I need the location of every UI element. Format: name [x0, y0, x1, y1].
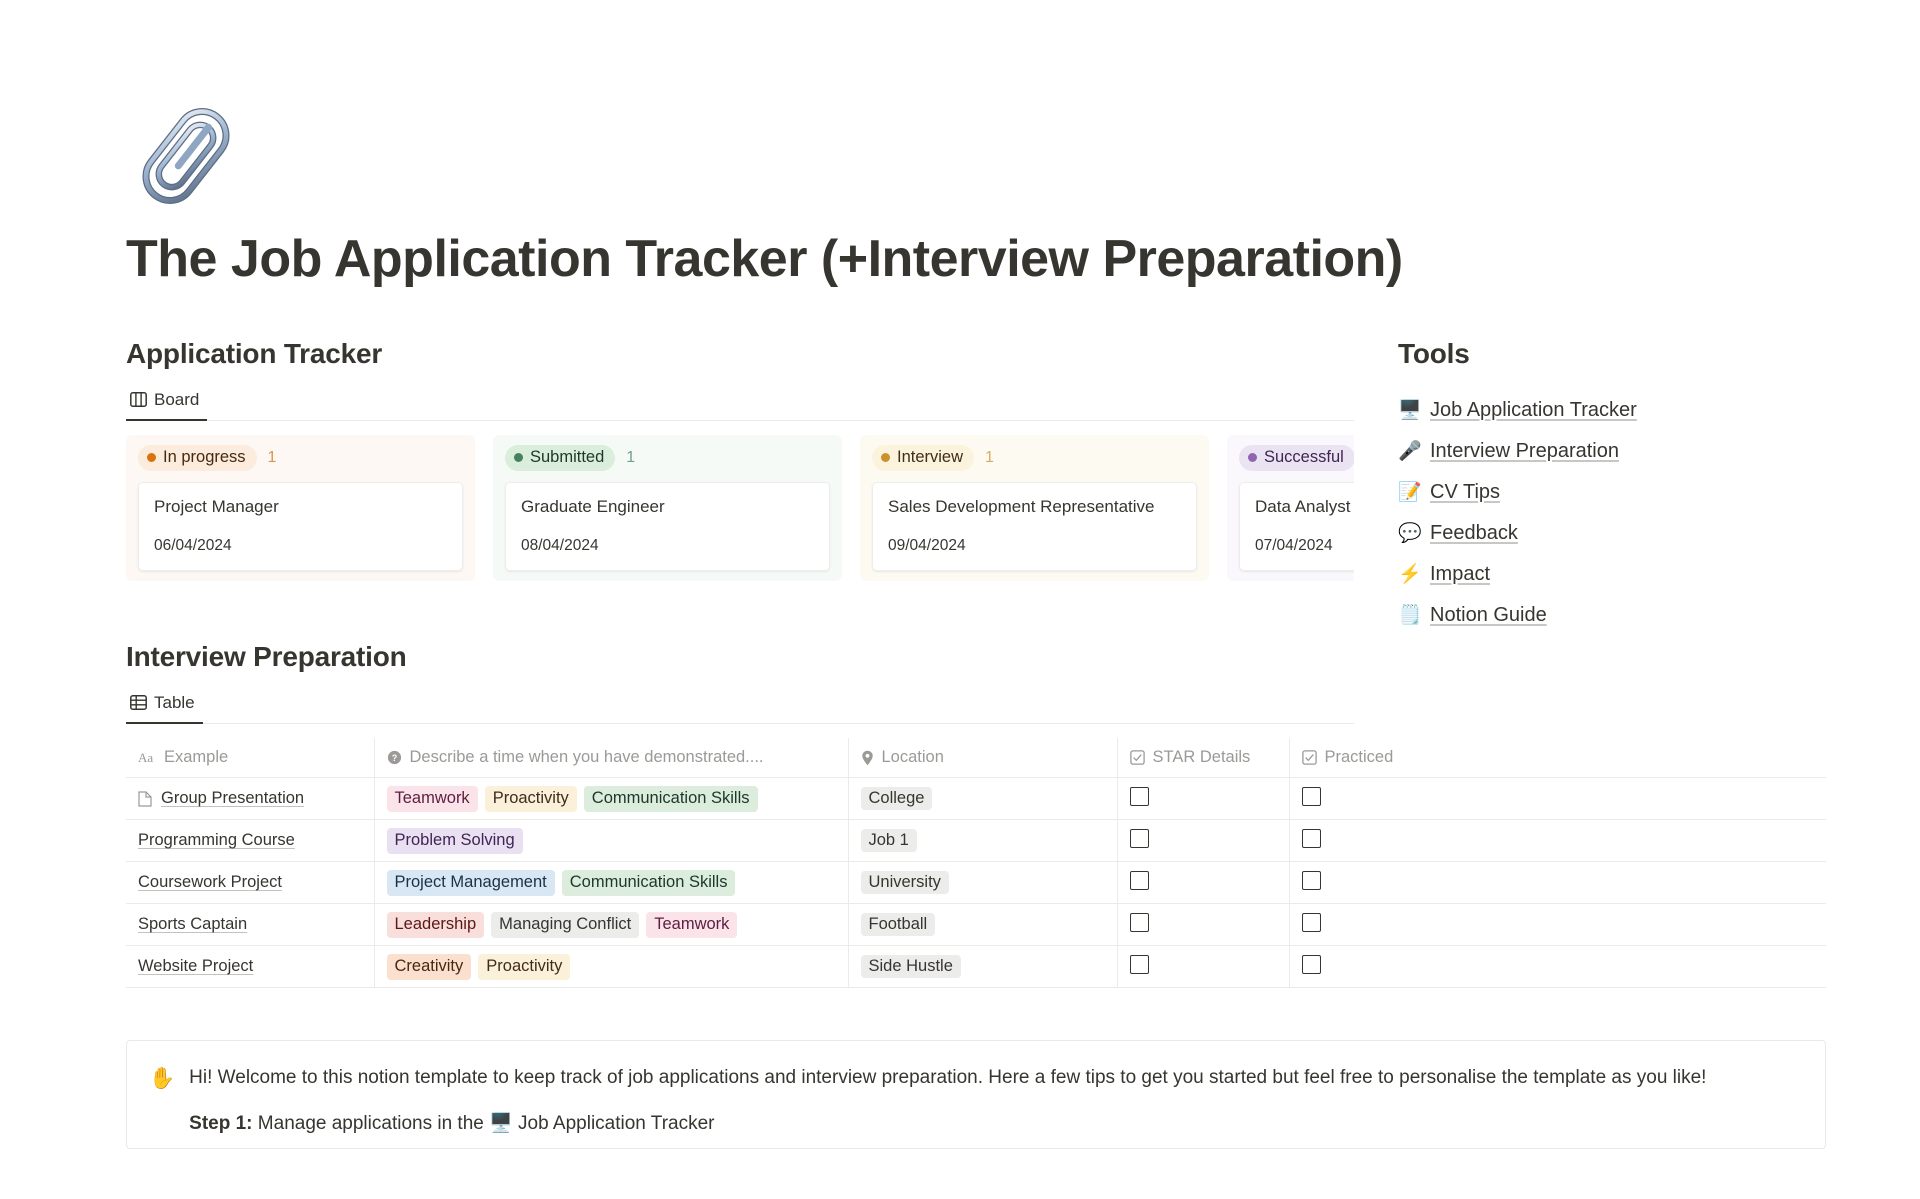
cell-location[interactable]: University [848, 862, 1117, 904]
tool-item-label[interactable]: CV Tips [1430, 481, 1500, 504]
page-body: Application Tracker Board In progress1Pr… [126, 338, 1794, 1149]
kanban-card-title: Data Analyst [1255, 496, 1354, 519]
column-header-example-label: Example [164, 748, 228, 767]
cell-describe-tags[interactable]: Problem Solving [374, 820, 848, 862]
microphone-icon: 🎤 [1398, 442, 1419, 461]
star-details-checkbox[interactable] [1130, 955, 1149, 974]
column-header-describe[interactable]: ? Describe a time when you have demonstr… [374, 738, 848, 778]
status-dot-icon [147, 453, 156, 462]
practiced-checkbox[interactable] [1302, 955, 1321, 974]
callout-step-text: Manage applications in the 🖥️ Job Applic… [253, 1113, 715, 1134]
cell-example[interactable]: Website Project [126, 946, 374, 988]
high-voltage-icon: ⚡ [1398, 565, 1419, 584]
cell-describe-tags[interactable]: LeadershipManaging ConflictTeamwork [374, 904, 848, 946]
kanban-column[interactable]: Submitted1Graduate Engineer08/04/2024 [493, 435, 842, 581]
tool-item[interactable]: 📝CV Tips [1398, 472, 1794, 513]
interview-preparation-table: Aa Example ? [126, 738, 1826, 989]
skill-tag: Managing Conflict [491, 912, 639, 938]
example-name[interactable]: Group Presentation [161, 789, 304, 808]
column-header-practiced[interactable]: Practiced [1289, 738, 1826, 778]
kanban-card-title: Project Manager [154, 496, 447, 519]
location-tag: Football [861, 913, 936, 936]
star-details-checkbox[interactable] [1130, 913, 1149, 932]
cell-star-details[interactable] [1117, 862, 1289, 904]
practiced-checkbox[interactable] [1302, 787, 1321, 806]
svg-text:?: ? [391, 753, 397, 763]
memo-icon: 📝 [1398, 483, 1419, 502]
example-name[interactable]: Sports Captain [138, 915, 247, 934]
column-header-practiced-label: Practiced [1325, 748, 1394, 767]
skill-tag: Creativity [387, 954, 472, 980]
tab-board[interactable]: Board [126, 386, 207, 421]
cell-location[interactable]: Football [848, 904, 1117, 946]
skill-tag: Teamwork [646, 912, 737, 938]
cell-practiced[interactable] [1289, 778, 1826, 820]
skill-tag: Communication Skills [562, 870, 736, 896]
cell-describe-tags[interactable]: Project ManagementCommunication Skills [374, 862, 848, 904]
kanban-card-title: Sales Development Representative [888, 496, 1181, 519]
application-tracker-heading: Application Tracker [126, 338, 1354, 370]
tools-column: Tools 🖥️Job Application Tracker🎤Intervie… [1354, 338, 1794, 636]
star-details-checkbox[interactable] [1130, 871, 1149, 890]
column-header-location-label: Location [882, 748, 944, 767]
status-dot-icon [1248, 453, 1257, 462]
tab-board-label: Board [154, 390, 199, 410]
kanban-card-date: 08/04/2024 [521, 537, 814, 555]
tools-heading: Tools [1398, 338, 1794, 370]
kanban-column[interactable]: Interview1Sales Development Representati… [860, 435, 1209, 581]
kanban-column-header: Interview1 [872, 445, 1197, 471]
tool-item[interactable]: 🎤Interview Preparation [1398, 431, 1794, 472]
raised-hand-icon: ✋ [149, 1063, 175, 1138]
status-badge[interactable]: In progress [138, 445, 257, 471]
kanban-card-date: 07/04/2024 [1255, 537, 1354, 555]
column-header-describe-label: Describe a time when you have demonstrat… [410, 748, 764, 767]
cell-practiced[interactable] [1289, 904, 1826, 946]
tool-item-label[interactable]: Notion Guide [1430, 604, 1547, 627]
practiced-checkbox[interactable] [1302, 829, 1321, 848]
skill-tag: Proactivity [485, 786, 577, 812]
column-header-example[interactable]: Aa Example [126, 738, 374, 778]
speech-balloon-icon: 💬 [1398, 524, 1419, 543]
kanban-column-count: 1 [268, 449, 277, 467]
welcome-callout: ✋ Hi! Welcome to this notion template to… [126, 1040, 1826, 1149]
table-row[interactable]: Website ProjectCreativityProactivitySide… [126, 946, 1826, 988]
kanban-card[interactable]: Data Analyst07/04/2024 [1239, 482, 1354, 571]
status-label: Successful [1264, 447, 1344, 468]
table-body: Group PresentationTeamworkProactivityCom… [126, 778, 1826, 988]
star-details-checkbox[interactable] [1130, 787, 1149, 806]
table-header-row: Aa Example ? [126, 738, 1826, 778]
multi-select-question-icon: ? [387, 750, 402, 765]
cell-example[interactable]: Programming Course [126, 820, 374, 862]
cell-practiced[interactable] [1289, 862, 1826, 904]
table-row[interactable]: Sports CaptainLeadershipManaging Conflic… [126, 904, 1826, 946]
skill-tag: Teamwork [387, 786, 478, 812]
cell-location[interactable]: Job 1 [848, 820, 1117, 862]
column-header-star-details[interactable]: STAR Details [1117, 738, 1289, 778]
location-tag: Job 1 [861, 829, 917, 852]
cell-describe-tags[interactable]: CreativityProactivity [374, 946, 848, 988]
tool-item-label[interactable]: Feedback [1430, 522, 1518, 545]
kanban-card[interactable]: Project Manager06/04/2024 [138, 482, 463, 571]
tools-list: 🖥️Job Application Tracker🎤Interview Prep… [1398, 390, 1794, 636]
cell-practiced[interactable] [1289, 946, 1826, 988]
page-title: The Job Application Tracker (+Interview … [126, 230, 1794, 290]
tool-item-label[interactable]: Job Application Tracker [1430, 399, 1637, 422]
status-dot-icon [514, 453, 523, 462]
status-badge[interactable]: Submitted [505, 445, 615, 471]
interview-preparation-heading: Interview Preparation [126, 641, 1354, 673]
kanban-board[interactable]: In progress1Project Manager06/04/2024Sub… [126, 435, 1354, 581]
tool-item-label[interactable]: Impact [1430, 563, 1490, 586]
tab-table-label: Table [154, 693, 195, 713]
left-column: Application Tracker Board In progress1Pr… [126, 338, 1354, 1149]
cell-describe-tags[interactable]: TeamworkProactivityCommunication Skills [374, 778, 848, 820]
notion-logo-icon: 🗒️ [1398, 606, 1419, 625]
kanban-column-header: In progress1 [138, 445, 463, 471]
title-aa-icon: Aa [138, 751, 156, 764]
cell-example[interactable]: Coursework Project [126, 862, 374, 904]
status-badge[interactable]: Successful [1239, 445, 1354, 471]
star-details-checkbox[interactable] [1130, 829, 1149, 848]
paperclip-icon [126, 96, 246, 216]
tool-item-label[interactable]: Interview Preparation [1430, 440, 1619, 463]
practiced-checkbox[interactable] [1302, 871, 1321, 890]
example-name[interactable]: Website Project [138, 957, 253, 976]
callout-text: Hi! Welcome to this notion template to k… [189, 1063, 1706, 1092]
checkbox-icon [1130, 750, 1145, 765]
skill-tag: Problem Solving [387, 828, 523, 854]
example-name[interactable]: Coursework Project [138, 873, 282, 892]
desktop-computer-icon: 🖥️ [1398, 401, 1419, 420]
kanban-card[interactable]: Graduate Engineer08/04/2024 [505, 482, 830, 571]
kanban-column[interactable]: Successful1Data Analyst07/04/2024 [1227, 435, 1354, 581]
table-row[interactable]: Coursework ProjectProject ManagementComm… [126, 862, 1826, 904]
column-header-star-details-label: STAR Details [1153, 748, 1251, 767]
status-label: In progress [163, 447, 246, 468]
tool-item[interactable]: 🗒️Notion Guide [1398, 595, 1794, 636]
callout-step-1: Step 1: Manage applications in the 🖥️ Jo… [189, 1109, 1706, 1138]
cell-example[interactable]: Sports Captain [126, 904, 374, 946]
cell-example[interactable]: Group Presentation [126, 778, 374, 820]
notion-page: The Job Application Tracker (+Interview … [0, 96, 1920, 1199]
cell-star-details[interactable] [1117, 778, 1289, 820]
page-icon [138, 791, 152, 807]
skill-tag: Leadership [387, 912, 485, 938]
cell-practiced[interactable] [1289, 820, 1826, 862]
kanban-column-count: 1 [985, 449, 994, 467]
skill-tag: Communication Skills [584, 786, 758, 812]
interview-preparation-section: Interview Preparation Table [126, 641, 1354, 1149]
kanban-card-date: 06/04/2024 [154, 537, 447, 555]
practiced-checkbox[interactable] [1302, 913, 1321, 932]
table-row[interactable]: Group PresentationTeamworkProactivityCom… [126, 778, 1826, 820]
location-tag: Side Hustle [861, 955, 961, 978]
tool-item[interactable]: ⚡Impact [1398, 554, 1794, 595]
cell-star-details[interactable] [1117, 946, 1289, 988]
kanban-column-count: 1 [626, 449, 635, 467]
kanban-column-header: Submitted1 [505, 445, 830, 471]
cell-star-details[interactable] [1117, 820, 1289, 862]
map-pin-icon [861, 750, 874, 766]
table-row[interactable]: Programming CourseProblem SolvingJob 1 [126, 820, 1826, 862]
table-view-icon [130, 695, 147, 710]
callout-body: Hi! Welcome to this notion template to k… [189, 1063, 1706, 1138]
tool-item[interactable]: 🖥️Job Application Tracker [1398, 390, 1794, 431]
location-tag: University [861, 871, 949, 894]
skill-tag: Proactivity [478, 954, 570, 980]
column-header-location[interactable]: Location [848, 738, 1117, 778]
status-dot-icon [881, 453, 890, 462]
example-name[interactable]: Programming Course [138, 831, 295, 850]
tool-item[interactable]: 💬Feedback [1398, 513, 1794, 554]
board-view-icon [130, 392, 147, 407]
kanban-column[interactable]: In progress1Project Manager06/04/2024 [126, 435, 475, 581]
kanban-card[interactable]: Sales Development Representative09/04/20… [872, 482, 1197, 571]
kanban-card-title: Graduate Engineer [521, 496, 814, 519]
kanban-column-header: Successful1 [1239, 445, 1354, 471]
svg-text:Aa: Aa [138, 751, 153, 764]
table-view-tabs: Table [126, 689, 1354, 724]
location-tag: College [861, 787, 933, 810]
skill-tag: Project Management [387, 870, 555, 896]
checkbox-icon [1302, 750, 1317, 765]
status-badge[interactable]: Interview [872, 445, 974, 471]
status-label: Interview [897, 447, 963, 468]
board-view-tabs: Board [126, 386, 1354, 421]
status-label: Submitted [530, 447, 604, 468]
kanban-card-date: 09/04/2024 [888, 537, 1181, 555]
tab-table[interactable]: Table [126, 689, 203, 724]
cell-star-details[interactable] [1117, 904, 1289, 946]
callout-step-prefix: Step 1: [189, 1113, 252, 1134]
cell-location[interactable]: Side Hustle [848, 946, 1117, 988]
cell-location[interactable]: College [848, 778, 1117, 820]
